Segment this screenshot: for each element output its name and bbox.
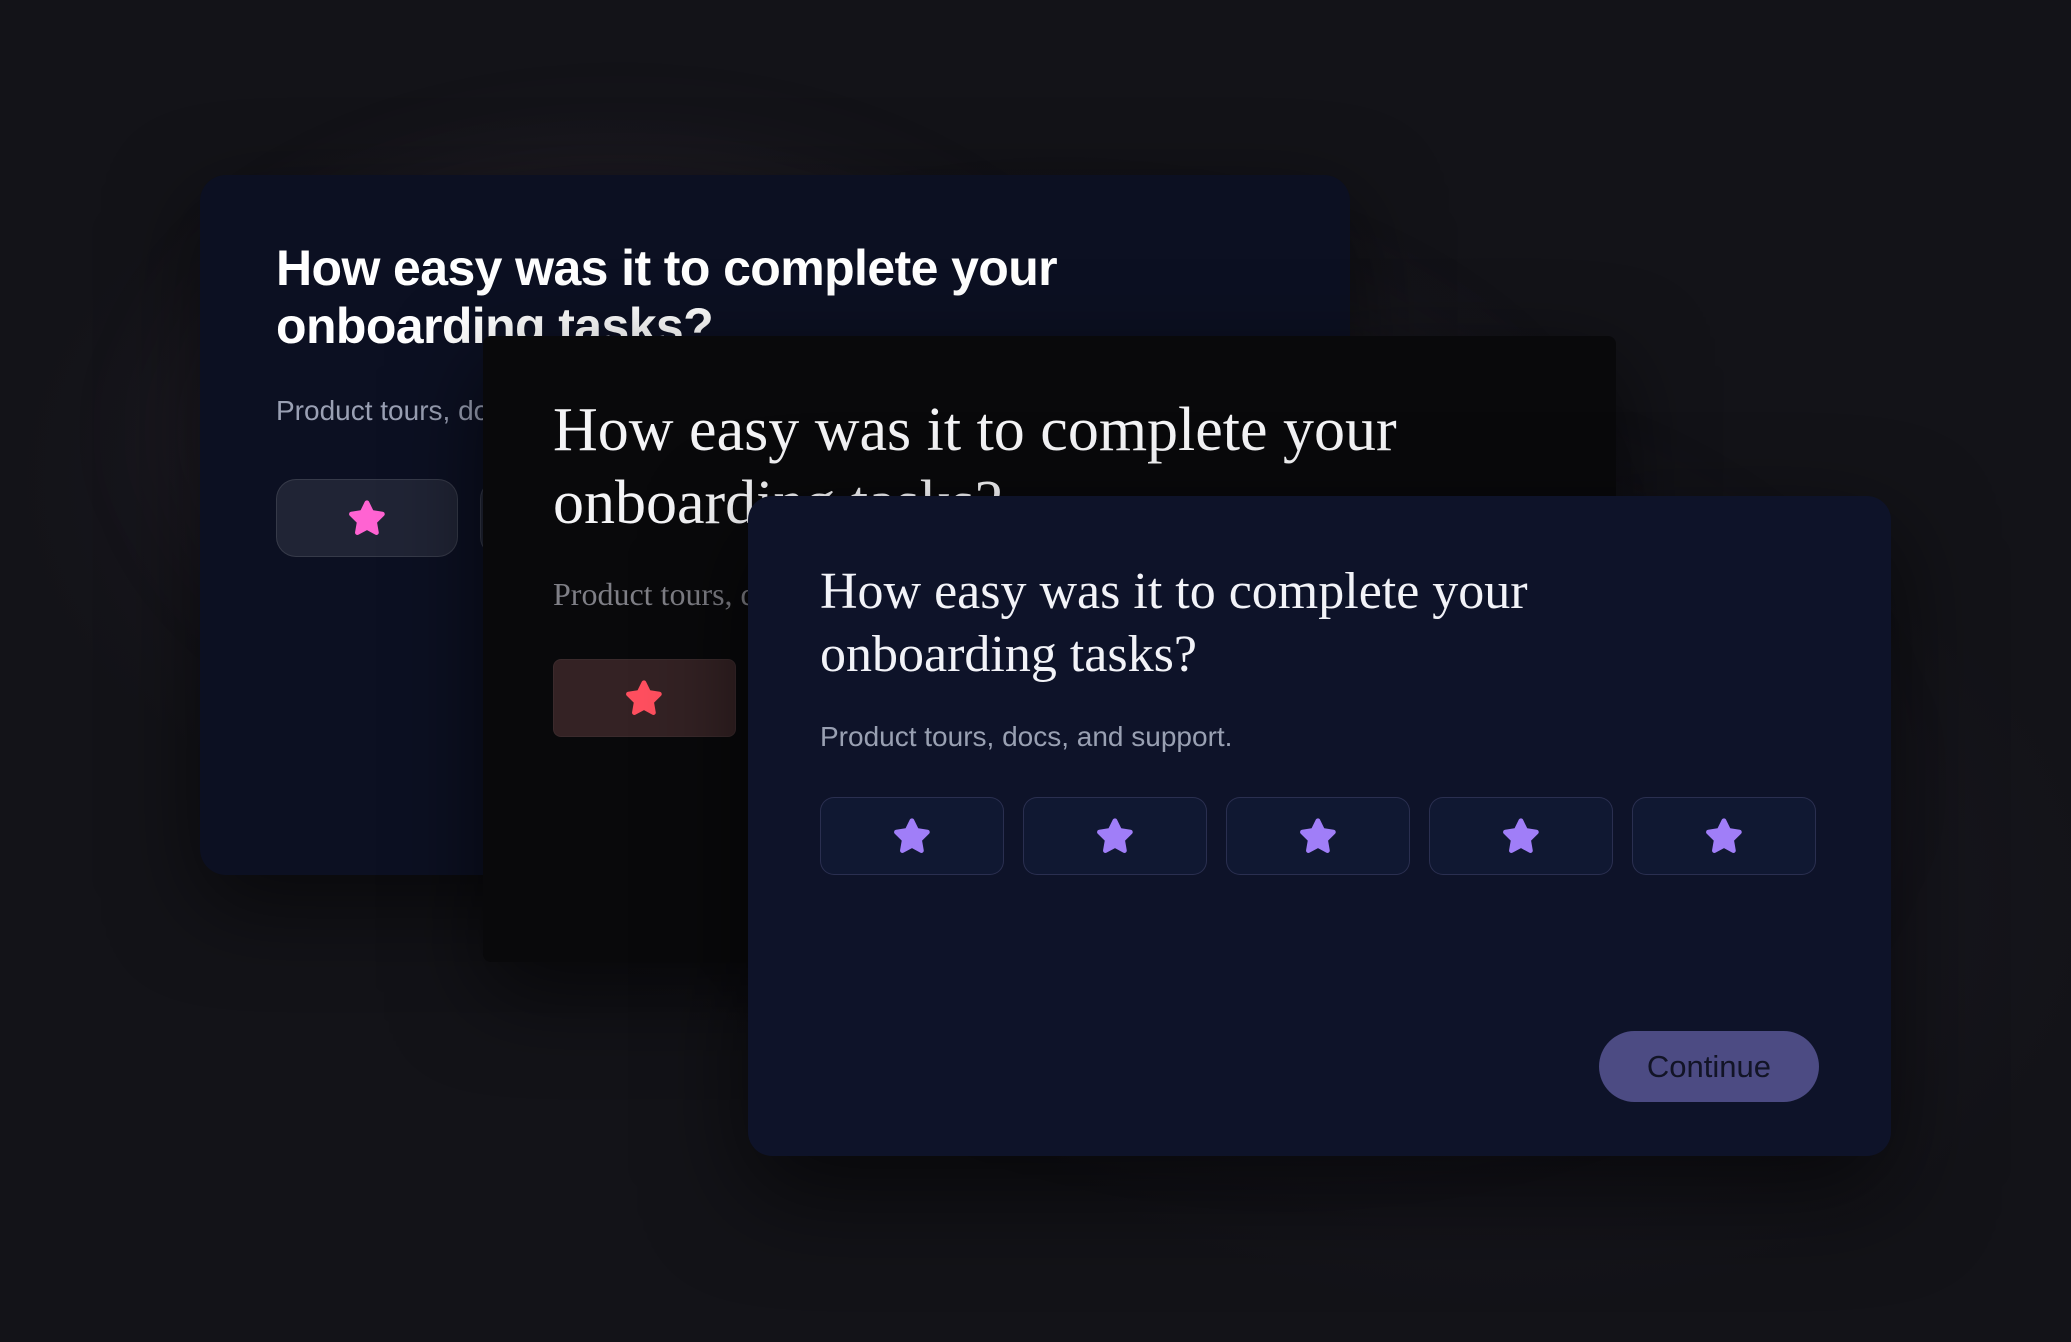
star-icon — [622, 676, 666, 720]
star-icon — [1093, 814, 1137, 858]
continue-button[interactable]: Continue — [1599, 1031, 1819, 1102]
card-footer: Continue — [820, 1031, 1819, 1102]
rating-option-1[interactable] — [820, 797, 1004, 875]
star-icon — [1702, 814, 1746, 858]
star-icon — [1499, 814, 1543, 858]
rating-option-3[interactable] — [1226, 797, 1410, 875]
star-rating-group — [820, 797, 1819, 875]
rating-option-2[interactable] — [1023, 797, 1207, 875]
star-icon — [1296, 814, 1340, 858]
question-title: How easy was it to complete your onboard… — [820, 560, 1650, 687]
star-icon — [345, 496, 389, 540]
rating-option-4[interactable] — [1429, 797, 1613, 875]
rating-option-5[interactable] — [1632, 797, 1816, 875]
star-icon — [890, 814, 934, 858]
canvas-background: How easy was it to complete your onboard… — [0, 0, 2071, 1342]
question-subtitle: Product tours, docs, and support. — [820, 721, 1819, 753]
rating-option-1[interactable] — [553, 659, 736, 737]
survey-card-front: How easy was it to complete your onboard… — [748, 496, 1891, 1156]
rating-option-1[interactable] — [276, 479, 458, 557]
